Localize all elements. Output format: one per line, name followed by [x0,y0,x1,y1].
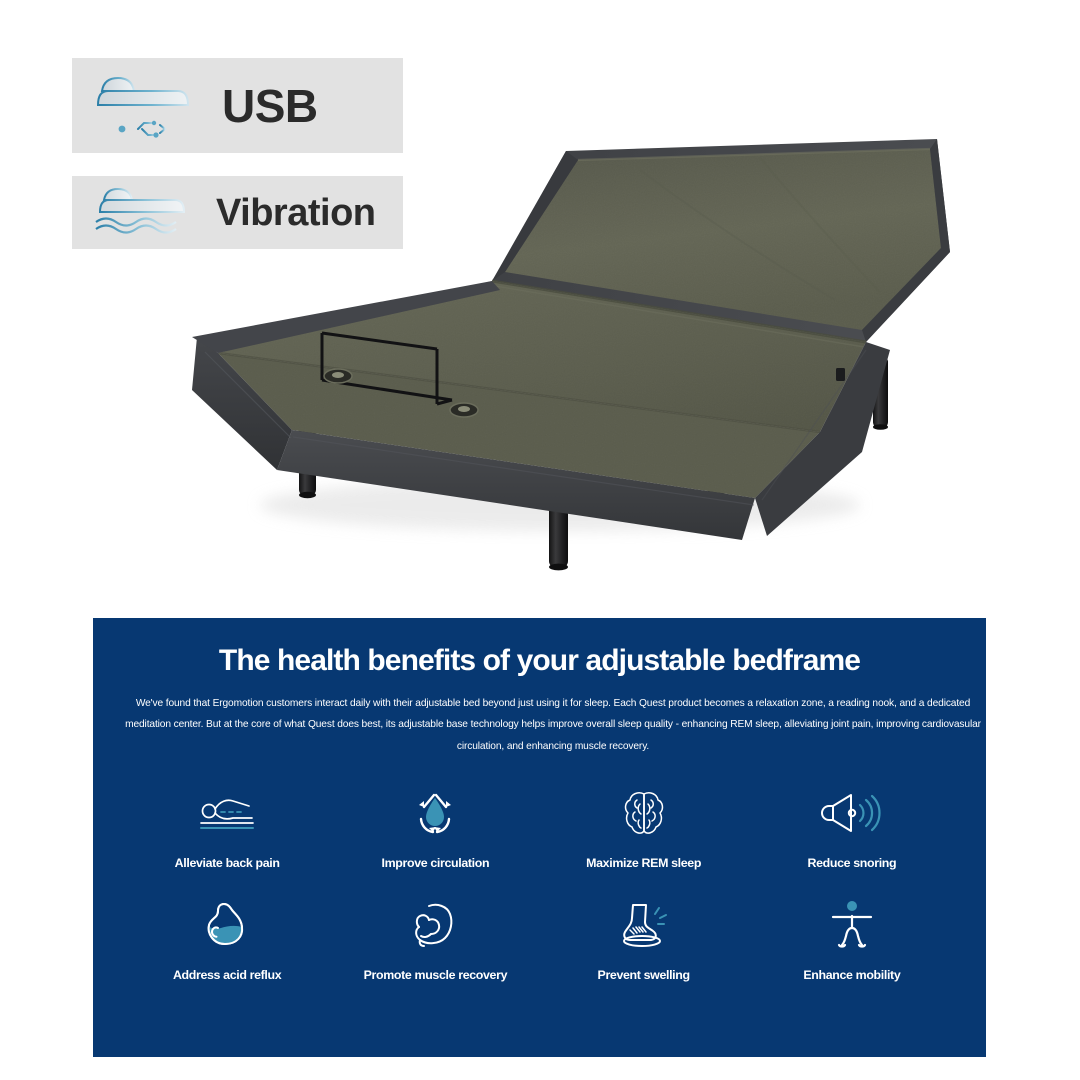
water-droplet-cycle-icon [410,784,460,842]
feature-label: Reduce snoring [808,856,897,870]
feature-promote-muscle-recovery: Promote muscle recovery [331,896,539,982]
feature-label: Prevent swelling [598,968,690,982]
flexed-bicep-icon [407,896,463,954]
feature-alleviate-back-pain: Alleviate back pain [123,784,331,870]
feature-label: Promote muscle recovery [364,968,507,982]
page-title: The health benefits of your adjustable b… [123,644,956,679]
feature-enhance-mobility: Enhance mobility [748,896,956,982]
person-lying-on-bed-icon [196,784,258,842]
feature-prevent-swelling: Prevent swelling [540,896,748,982]
feature-reduce-snoring: Reduce snoring [748,784,956,870]
badge-usb: USB [72,58,403,153]
stomach-icon [199,896,255,954]
feature-label: Maximize REM sleep [586,856,701,870]
feature-label: Improve circulation [382,856,490,870]
brain-icon [621,784,667,842]
bed-vibration-waves-icon [90,182,202,243]
feature-maximize-rem-sleep: Maximize REM sleep [540,784,748,870]
health-benefits-panel: The health benefits of your adjustable b… [93,618,986,1057]
control-port [836,368,845,381]
benefits-description: We've found that Ergomotion customers in… [123,693,983,759]
feature-address-acid-reflux: Address acid reflux [123,896,331,982]
foot-swelling-icon [614,896,674,954]
badge-vibration-label: Vibration [216,194,376,232]
feature-label: Enhance mobility [803,968,900,982]
badge-vibration: Vibration [72,176,403,249]
bed-usb-port-icon [90,67,208,144]
badge-usb-label: USB [222,83,318,129]
feature-label: Address acid reflux [173,968,281,982]
feature-label: Alleviate back pain [175,856,280,870]
speaker-sound-waves-icon [821,784,883,842]
benefits-feature-grid: Alleviate back pain [123,784,956,982]
feature-improve-circulation: Improve circulation [331,784,539,870]
person-stretching-icon [827,896,877,954]
